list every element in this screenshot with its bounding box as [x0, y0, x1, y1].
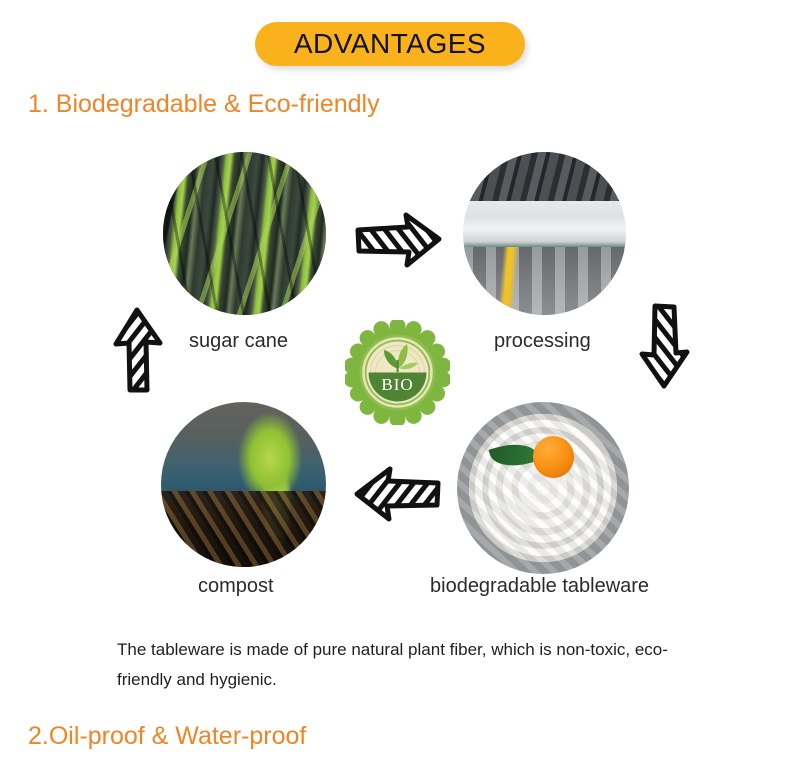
sugar-cane-image-fill: [163, 152, 326, 315]
arrow-up-icon: [112, 306, 164, 394]
bio-leaf-badge-icon: BIO: [345, 320, 450, 425]
label-compost: compost: [198, 575, 274, 598]
svg-text:BIO: BIO: [381, 375, 413, 394]
arrow-left-icon: [354, 466, 442, 522]
advantages-banner-title: ADVANTAGES: [294, 30, 486, 58]
orange-fruit: [533, 436, 574, 477]
compost-seedling-photo: [161, 402, 326, 567]
label-biodegradable-tableware: biodegradable tableware: [430, 575, 649, 598]
advantages-page: ADVANTAGES 1. Biodegradable & Eco-friend…: [0, 0, 790, 766]
label-sugar-cane: sugar cane: [189, 330, 288, 353]
section-heading-biodegradable: 1. Biodegradable & Eco-friendly: [28, 90, 380, 119]
arrow-right-icon: [354, 212, 442, 268]
label-processing: processing: [494, 330, 591, 353]
tableware-plates-image-fill: [457, 402, 629, 574]
factory-processing-photo: [463, 152, 626, 315]
advantages-banner: ADVANTAGES: [255, 22, 525, 66]
biodegradable-tableware-photo: [457, 402, 629, 574]
compost-seedling-image-fill: [161, 402, 326, 567]
body-paragraph: The tableware is made of pure natural pl…: [117, 635, 677, 695]
sugar-cane-photo: [163, 152, 326, 315]
arrow-down-icon: [638, 302, 690, 390]
factory-processing-image-fill: [463, 152, 626, 315]
section-heading-oilproof: 2.Oil-proof & Water-proof: [28, 722, 306, 751]
